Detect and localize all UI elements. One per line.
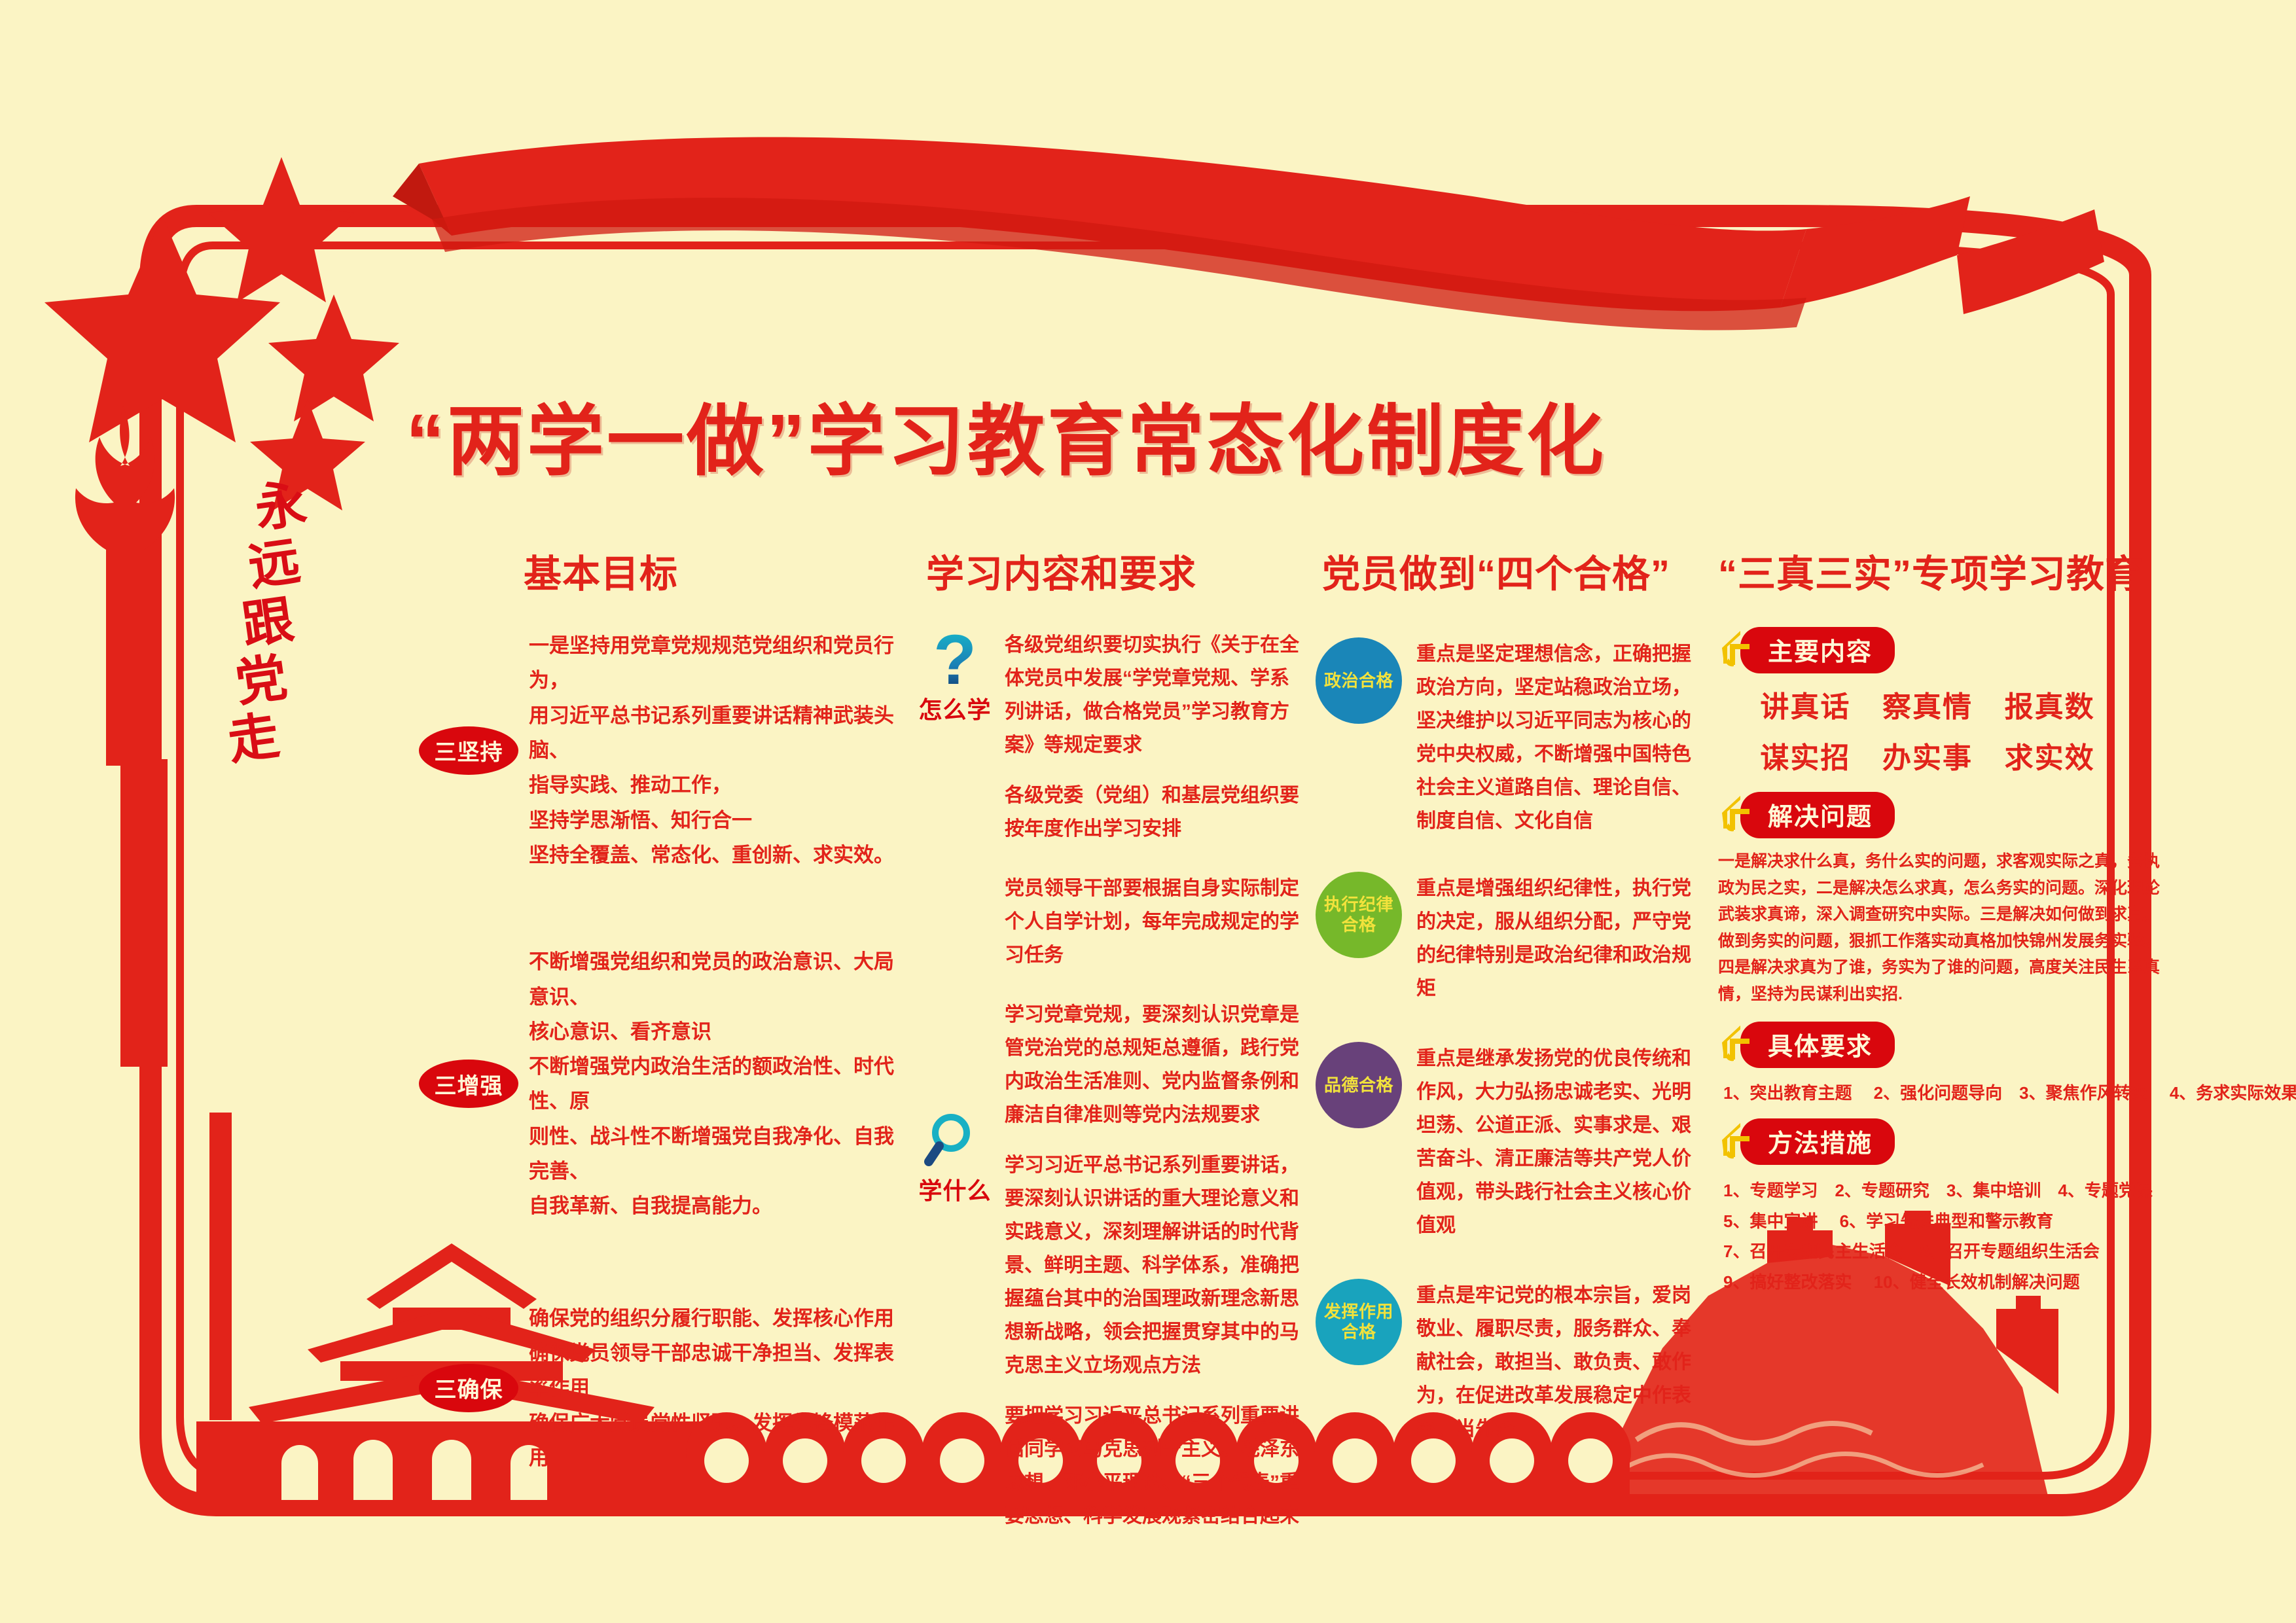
study-text-what: 学习党章党规，要深刻认识党章是管党治党的总规矩总遵循，践行党内政治生活准则、党内… xyxy=(1005,998,1306,1533)
goal-line: 确保党的组织分履行职能、发挥核心作用 xyxy=(529,1301,903,1336)
goal-line: 确保广大党员党性坚强、发挥先锋模范作用 xyxy=(529,1406,903,1476)
qualification-text-role: 重点是牢记党的根本宗旨，爱岗敬业、履职尽责，服务群众、奉献社会，敢担当、敢负责、… xyxy=(1416,1279,1708,1446)
ribbon-right xyxy=(1780,196,1970,308)
party-emblem-icon xyxy=(1718,1122,1759,1162)
goal-block-1: 三坚持 一是坚持用党章党规规范党组织和党员行为， 用习近平总书记系列重要讲话精神… xyxy=(419,628,903,872)
qualification-badge-discipline: 执行纪律 合格 xyxy=(1316,872,1402,958)
study-paragraph: 各级党组织要切实执行《关于在全体党员中发展“学党章党规、学系列讲话，做合格党员”… xyxy=(1005,628,1306,762)
study-block-what: 学什么 学习党章党规，要深刻认识党章是管党治党的总规矩总遵循，践行党内政治生活准… xyxy=(913,998,1306,1533)
goal-line: 不断增强党组织和党员的政治意识、大局意识、 xyxy=(529,944,903,1014)
section-tag-specific-requirements: 具体要求 xyxy=(1740,1022,1895,1068)
qualification-item-4: 发挥作用 合格 重点是牢记党的根本宗旨，爱岗敬业、履职尽责，服务群众、奉献社会，… xyxy=(1316,1279,1708,1446)
study-label-what: 学什么 xyxy=(918,1177,991,1204)
study-paragraph: 各级党委（党组）和基层党组织要按年度作出学习安排 xyxy=(1005,779,1306,846)
section-header-specific-requirements: 具体要求 xyxy=(1718,1023,2170,1066)
study-text-how: 各级党组织要切实执行《关于在全体党员中发展“学党章党规、学系列讲话，做合格党员”… xyxy=(1005,628,1306,972)
goal-line: 不断增强党内政治生活的额政治性、时代性、原 xyxy=(529,1049,903,1119)
study-label-how: 怎么学 xyxy=(918,696,991,723)
solve-problems-paragraph: 一是解决求什么真，务什么实的问题，求客观实际之真，务执政为民之实，二是解决怎么求… xyxy=(1718,848,2170,1007)
torch-icon xyxy=(75,406,175,1067)
qualification-text-morality: 重点是继承发扬党的优良传统和作风，大力弘扬忠诚老实、光明坦荡、公道正派、实事求是… xyxy=(1416,1042,1708,1242)
ribbon-right2 xyxy=(1957,209,2104,314)
method-line: 7、召开专题民主生活会 8、召开专题组织生活会 xyxy=(1723,1236,2170,1267)
goal-pill-1: 三坚持 xyxy=(419,726,518,775)
ribbon-wave xyxy=(419,137,1806,311)
vertical-slogan-char-5: 走 xyxy=(202,704,307,774)
section-methods-measures: 方法措施 1、专题学习 2、专题研究 3、集中培训 4、专题党课 5、集中宣讲 … xyxy=(1718,1120,2170,1298)
goal-line: 核心意识、看齐意识 xyxy=(529,1014,903,1049)
party-emblem-icon xyxy=(1718,794,1759,835)
qualification-item-3: 品德合格 重点是继承发扬党的优良传统和作风，大力弘扬忠诚老实、光明坦荡、公道正派… xyxy=(1316,1042,1708,1242)
requirement-line: 1、突出教育主题 2、强化问题导向 3、聚焦作风转变 4、务求实际效果 xyxy=(1723,1078,2170,1109)
magnifier-icon xyxy=(913,1109,997,1172)
star-group xyxy=(45,157,399,510)
qualification-badge-role: 发挥作用 合格 xyxy=(1316,1279,1402,1365)
section-tag-main-content: 主要内容 xyxy=(1740,627,1895,673)
study-paragraph: 党员领导干部要根据自身实际制定个人自学计划，每年完成规定的学习任务 xyxy=(1005,872,1306,972)
phrase-item: 求实效 xyxy=(1988,734,2111,776)
phrase-item: 察真情 xyxy=(1867,683,1989,725)
star-large xyxy=(45,216,280,442)
six-phrases-grid: 讲真话 察真情 报真数 谋实招 办实事 求实效 xyxy=(1744,683,2111,776)
vertical-slogan: 永 远 跟 党 走 xyxy=(232,478,331,764)
goal-line: 确保党员领导干部忠诚干净担当、发挥表率作用 xyxy=(529,1336,903,1406)
study-paragraph: 学习党章党规，要深刻认识党章是管党治党的总规矩总遵循，践行党内政治生活准则、党内… xyxy=(1005,998,1306,1132)
party-emblem-icon xyxy=(1718,1024,1759,1065)
section-solve-problems: 解决问题 一是解决求什么真，务什么实的问题，求客观实际之真，务执政为民之实，二是… xyxy=(1718,793,2170,1007)
methods-measures-list: 1、专题学习 2、专题研究 3、集中培训 4、专题党课 5、集中宣讲 6、学习先… xyxy=(1723,1175,2170,1298)
party-emblem-icon xyxy=(1718,630,1759,670)
specific-requirements-list: 1、突出教育主题 2、强化问题导向 3、聚焦作风转变 4、务求实际效果 xyxy=(1723,1078,2170,1109)
section-header-methods-measures: 方法措施 xyxy=(1718,1120,2170,1164)
study-paragraph: 要把学习习近平总书记系列重要讲话同学习马克思列宁主义、毛泽东思想、邓小平理论、“… xyxy=(1005,1399,1306,1533)
column-heading-basic-goals: 基本目标 xyxy=(524,543,903,598)
question-mark-icon: ? xyxy=(913,628,997,691)
section-header-solve-problems: 解决问题 xyxy=(1718,793,2170,836)
goal-line: 指导实践、推动工作， xyxy=(529,768,903,802)
study-icon-how: ? 怎么学 xyxy=(913,628,997,725)
phrase-item: 办实事 xyxy=(1867,734,1989,776)
phrase-item: 报真数 xyxy=(1988,683,2111,725)
page-title: “两学一做”学习教育常态化制度化 xyxy=(406,378,1649,490)
column-special-education: “三真三实”专项学习教育 主要内容 讲真话 察真情 报真数 谋实招 办实事 xyxy=(1718,543,2170,1310)
goal-block-2: 三增强 不断增强党组织和党员的政治意识、大局意识、 核心意识、看齐意识 不断增强… xyxy=(419,944,903,1224)
section-main-content: 主要内容 讲真话 察真情 报真数 谋实招 办实事 求实效 xyxy=(1718,628,2170,776)
goal-text-2: 不断增强党组织和党员的政治意识、大局意识、 核心意识、看齐意识 不断增强党内政治… xyxy=(529,944,903,1224)
ribbon-tail xyxy=(393,164,452,236)
phrase-item: 讲真话 xyxy=(1744,683,1867,725)
qualification-item-2: 执行纪律 合格 重点是增强组织纪律性，执行党的决定，服从组织分配，严守党的纪律特… xyxy=(1316,872,1708,1005)
qualification-item-1: 政治合格 重点是坚定理想信念，正确把握政治方向，坚定站稳政治立场，坚决维护以习近… xyxy=(1316,637,1708,838)
goal-text-3: 确保党的组织分履行职能、发挥核心作用 确保党员领导干部忠诚干净担当、发挥表率作用… xyxy=(529,1301,903,1476)
column-four-qualifications: 党员做到“四个合格” 政治合格 重点是坚定理想信念，正确把握政治方向，坚定站稳政… xyxy=(1316,543,1708,1476)
column-study-content: 学习内容和要求 ? 怎么学 各级党组织要切实执行《关于在全体党员中发展“学党章党… xyxy=(913,543,1306,1559)
star-medium-2 xyxy=(268,294,399,421)
study-block-how: ? 怎么学 各级党组织要切实执行《关于在全体党员中发展“学党章党规、学系列讲话，… xyxy=(913,628,1306,972)
phrase-item: 谋实招 xyxy=(1744,734,1867,776)
ribbon-shadow xyxy=(432,198,1806,330)
section-specific-requirements: 具体要求 1、突出教育主题 2、强化问题导向 3、聚焦作风转变 4、务求实际效果 xyxy=(1718,1023,2170,1109)
qualification-badge-morality: 品德合格 xyxy=(1316,1042,1402,1128)
goal-text-1: 一是坚持用党章党规规范党组织和党员行为， 用习近平总书记系列重要讲话精神武装头脑… xyxy=(529,628,903,872)
poster-root: 永 远 跟 党 走 “两学一做”学习教育常态化制度化 基本目标 三坚持 一是坚持… xyxy=(0,0,2296,1623)
study-paragraph: 学习习近平总书记系列重要讲话，要深刻认识讲话的重大理论意义和实践意义，深刻理解讲… xyxy=(1005,1149,1306,1382)
method-line: 1、专题学习 2、专题研究 3、集中培训 4、专题党课 xyxy=(1723,1175,2170,1206)
goal-pill-3: 三确保 xyxy=(419,1364,518,1412)
study-icon-what: 学什么 xyxy=(913,1109,997,1206)
goal-line: 坚持全覆盖、常态化、重创新、求实效。 xyxy=(529,838,903,872)
goal-line: 坚持学思渐悟、知行合一 xyxy=(529,803,903,838)
goal-line: 自我革新、自我提高能力。 xyxy=(529,1188,903,1223)
section-header-main-content: 主要内容 xyxy=(1718,628,2170,671)
section-tag-methods-measures: 方法措施 xyxy=(1740,1118,1895,1165)
section-tag-solve-problems: 解决问题 xyxy=(1740,792,1895,838)
method-line: 5、集中宣讲 6、学习先进典型和警示教育 xyxy=(1723,1206,2170,1237)
star-medium-1 xyxy=(208,157,355,302)
column-heading-four-qualifications: 党员做到“四个合格” xyxy=(1322,543,1708,598)
qualification-badge-political: 政治合格 xyxy=(1316,637,1402,724)
goal-pill-2: 三增强 xyxy=(419,1060,518,1108)
column-heading-special-education: “三真三实”专项学习教育 xyxy=(1718,543,2170,598)
goal-block-3: 三确保 确保党的组织分履行职能、发挥核心作用 确保党员领导干部忠诚干净担当、发挥… xyxy=(419,1301,903,1476)
goal-line: 用习近平总书记系列重要讲话精神武装头脑、 xyxy=(529,698,903,768)
column-heading-study-content: 学习内容和要求 xyxy=(926,543,1306,598)
column-basic-goals: 基本目标 三坚持 一是坚持用党章党规规范党组织和党员行为， 用习近平总书记系列重… xyxy=(419,543,903,1475)
qualification-text-discipline: 重点是增强组织纪律性，执行党的决定，服从组织分配，严守党的纪律特别是政治纪律和政… xyxy=(1416,872,1708,1005)
qualification-text-political: 重点是坚定理想信念，正确把握政治方向，坚定站稳政治立场，坚决维护以习近平同志为核… xyxy=(1416,637,1708,838)
goal-line: 一是坚持用党章党规规范党组织和党员行为， xyxy=(529,628,903,698)
goal-line: 则性、战斗性不断增强党自我净化、自我完善、 xyxy=(529,1119,903,1189)
method-line: 9、搞好整改落实 10、健全长效机制解决问题 xyxy=(1723,1267,2170,1298)
